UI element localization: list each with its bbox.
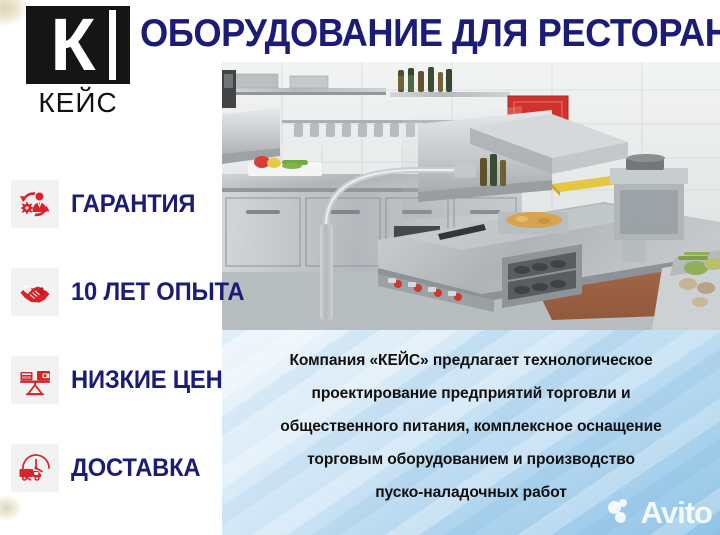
feature-list: ГАРАНТИЯ [0,160,222,512]
truck-clock-icon [11,444,59,492]
description-panel: Компания «КЕЙС» предлагает технологическ… [222,330,720,535]
description-line: торговым оборудованием и производство [236,443,706,476]
feature-item-experience: 10 ЛЕТ ОПЫТА [0,248,222,336]
feature-item-warranty: ГАРАНТИЯ [0,160,222,248]
description-line: общественного питания, комплексное оснащ… [236,410,706,443]
company-description: Компания «КЕЙС» предлагает технологическ… [236,344,706,509]
case-logo-mark: К [26,6,130,84]
feature-label: 10 ЛЕТ ОПЫТА [71,279,244,306]
brand-logo: К КЕЙС [22,6,134,119]
feature-label: ДОСТАВКА [71,455,200,482]
feature-item-prices: НИЗКИЕ ЦЕНЫ [0,336,222,424]
kitchen-illustration [222,62,720,330]
price-scales-icon [11,356,59,404]
description-line: проектирование предприятий торговли и [236,377,706,410]
logo-bar-accent [109,10,116,80]
description-line: Компания «КЕЙС» предлагает технологическ… [236,344,706,377]
advert-banner: К КЕЙС ОБОРУДОВАНИЕ ДЛЯ РЕСТОРАНОВ [0,0,720,535]
description-line: пуско-наладочных работ [236,476,706,509]
page-title: ОБОРУДОВАНИЕ ДЛЯ РЕСТОРАНОВ [140,13,675,55]
feature-label: НИЗКИЕ ЦЕНЫ [71,367,246,394]
feature-item-delivery: ДОСТАВКА [0,424,222,512]
commercial-kitchen-photo [222,62,720,330]
logo-wordmark: КЕЙС [22,87,134,119]
feature-label: ГАРАНТИЯ [71,191,195,218]
handshake-icon [11,268,59,316]
service-person-gear-icon [11,180,59,228]
